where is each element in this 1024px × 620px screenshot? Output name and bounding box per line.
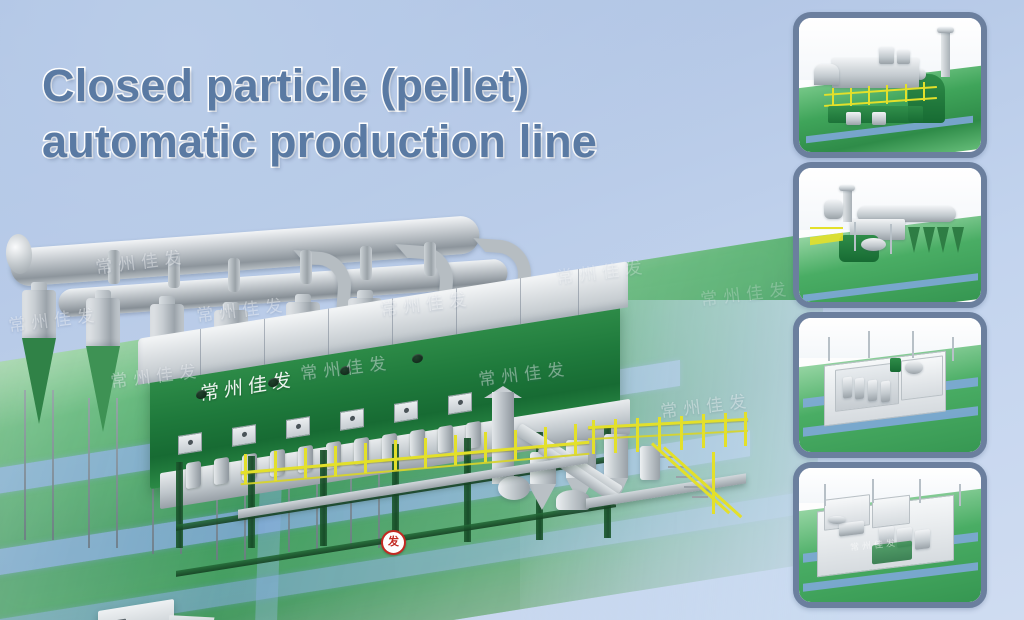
- thumbnail-3-image: [799, 318, 981, 452]
- duct-riser: [360, 246, 372, 280]
- fan-motor: [270, 449, 285, 477]
- cyclone-support-leg: [24, 390, 26, 540]
- cyclone-support-leg: [116, 398, 118, 548]
- thumbnail-rail: 常州佳发: [793, 12, 987, 612]
- round-tank: [498, 476, 530, 500]
- access-panel: [448, 392, 472, 415]
- thumbnail-4[interactable]: 常州佳发: [793, 462, 987, 608]
- thumbnail-4-image: 常州佳发: [799, 468, 981, 602]
- access-panel: [340, 408, 364, 431]
- cyclone-cone: [86, 346, 120, 432]
- title-line-1: Closed particle (pellet): [42, 58, 742, 114]
- cyclone-separator: [86, 290, 120, 432]
- duct-riser: [424, 242, 436, 276]
- access-panel: [286, 416, 310, 439]
- cyclone-cone: [22, 338, 56, 424]
- thumbnail-3[interactable]: [793, 312, 987, 458]
- company-logo-badge: 发: [381, 530, 406, 555]
- promo-banner: 常州佳发: [0, 0, 1024, 620]
- cyclone-separator: [22, 282, 56, 424]
- round-tank: [556, 490, 590, 510]
- production-line-render: 常州佳发: [0, 190, 790, 490]
- cyclone-support-leg: [88, 398, 90, 548]
- thumbnail-2-image: [799, 168, 981, 302]
- support-column: [176, 462, 183, 548]
- access-panel: [232, 424, 256, 447]
- duct-riser: [168, 254, 180, 288]
- access-panel: [394, 400, 418, 423]
- access-panel: [178, 432, 202, 455]
- duct-riser: [300, 250, 312, 284]
- fan-motor: [214, 457, 229, 485]
- fan-motor: [410, 429, 425, 457]
- cyclone-support-leg: [52, 390, 54, 540]
- thumbnail-1[interactable]: [793, 12, 987, 158]
- stair-tread: [692, 496, 708, 498]
- duct-riser: [108, 250, 120, 284]
- feeder-vessel: [640, 446, 660, 480]
- cyclone-barrel: [22, 290, 56, 338]
- duct-riser: [228, 258, 240, 292]
- fan-motor: [186, 461, 201, 489]
- page-title: Closed particle (pellet) automatic produ…: [42, 58, 742, 170]
- stair-post: [712, 452, 715, 514]
- title-line-2: automatic production line: [42, 114, 742, 170]
- thumbnail-1-image: [799, 18, 981, 152]
- cyclone-barrel: [86, 298, 120, 346]
- thumbnail-2[interactable]: [793, 162, 987, 308]
- vessel-cone: [528, 484, 556, 510]
- fan-motor: [438, 425, 453, 453]
